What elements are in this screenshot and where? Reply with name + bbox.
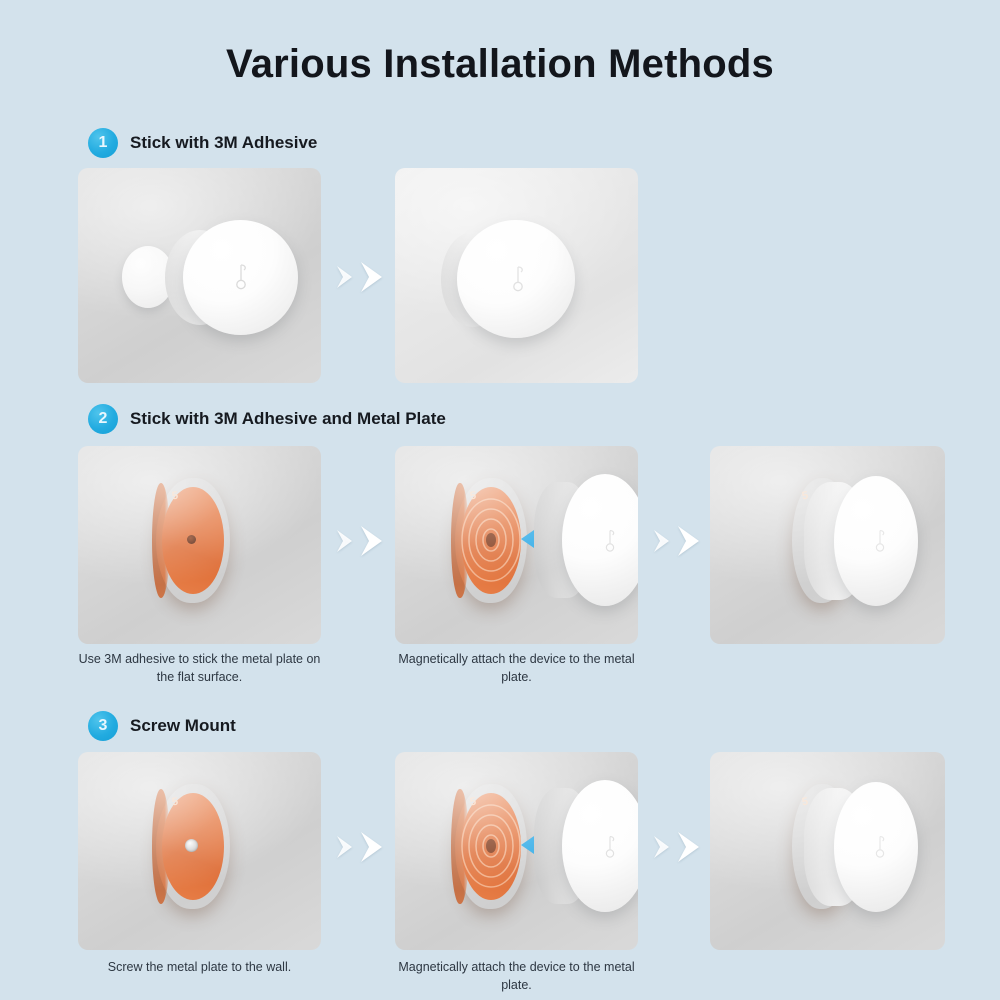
chevron-right-icon — [358, 522, 386, 560]
step-panel-1-1 — [78, 168, 321, 383]
sensor-device-icon — [540, 780, 636, 912]
step-panel-2-2: 5 — [395, 446, 638, 644]
sensor-device-icon — [806, 782, 906, 912]
chevron-right-icon — [334, 262, 356, 292]
step-arrow-3a — [334, 828, 386, 866]
section-title-3: Screw Mount — [130, 716, 236, 736]
step-caption-2-2: Magnetically attach the device to the me… — [395, 650, 638, 686]
magnet-rings-icon — [455, 478, 527, 603]
section-title-2: Stick with 3M Adhesive and Metal Plate — [130, 409, 446, 429]
metal-plate-icon: 5 — [455, 478, 527, 603]
screw-icon — [185, 839, 198, 852]
section-header-1: 1 Stick with 3M Adhesive — [88, 128, 317, 158]
step-caption-3-2: Magnetically attach the device to the me… — [395, 958, 638, 994]
step-arrow-2a — [334, 522, 386, 560]
chevron-right-icon — [675, 828, 703, 866]
step-panel-3-1: 5 — [78, 752, 321, 950]
metal-plate-icon: 5 — [156, 478, 230, 603]
chevron-right-icon — [334, 526, 356, 556]
step-panel-1-2 — [395, 168, 638, 383]
metal-plate-icon: 5 — [156, 784, 230, 909]
brand-logo-icon — [872, 834, 888, 865]
metal-plate-icon: 5 — [455, 784, 527, 909]
brand-logo-icon — [509, 264, 527, 299]
step-panel-3-2: 5 — [395, 752, 638, 950]
chevron-right-icon — [675, 522, 703, 560]
step-panel-3-3: 5 — [710, 752, 945, 950]
brand-logo-icon — [872, 528, 888, 559]
plate-hole — [187, 535, 196, 544]
sensor-device-icon — [183, 220, 298, 335]
chevron-right-icon — [651, 526, 673, 556]
step-caption-2-1: Use 3M adhesive to stick the metal plate… — [78, 650, 321, 686]
device-body — [562, 780, 638, 912]
step-arrow-3b — [651, 828, 703, 866]
step-caption-3-1: Screw the metal plate to the wall. — [78, 958, 321, 976]
page-title: Various Installation Methods — [0, 42, 1000, 87]
magnet-rings-icon — [455, 784, 527, 909]
section-header-3: 3 Screw Mount — [88, 711, 236, 741]
chevron-right-icon — [334, 832, 356, 862]
step-panel-2-3: 5 — [710, 446, 945, 644]
sensor-device-icon — [806, 476, 906, 606]
sensor-device-icon — [457, 220, 575, 338]
brand-logo-icon — [602, 528, 618, 559]
infographic-page: Various Installation Methods 1 Stick wit… — [0, 0, 1000, 1000]
step-panel-2-1: 5 — [78, 446, 321, 644]
brand-logo-icon — [232, 262, 250, 297]
section-title-1: Stick with 3M Adhesive — [130, 133, 317, 153]
section-badge-3: 3 — [88, 711, 118, 741]
chevron-right-icon — [651, 832, 673, 862]
step-arrow-1 — [334, 258, 386, 296]
section-badge-1: 1 — [88, 128, 118, 158]
device-body — [562, 474, 638, 606]
sensor-device-icon — [540, 474, 636, 606]
brand-logo-icon — [602, 834, 618, 865]
chevron-right-icon — [358, 258, 386, 296]
chevron-right-icon — [358, 828, 386, 866]
section-badge-2: 2 — [88, 404, 118, 434]
step-arrow-2b — [651, 522, 703, 560]
section-header-2: 2 Stick with 3M Adhesive and Metal Plate — [88, 404, 446, 434]
